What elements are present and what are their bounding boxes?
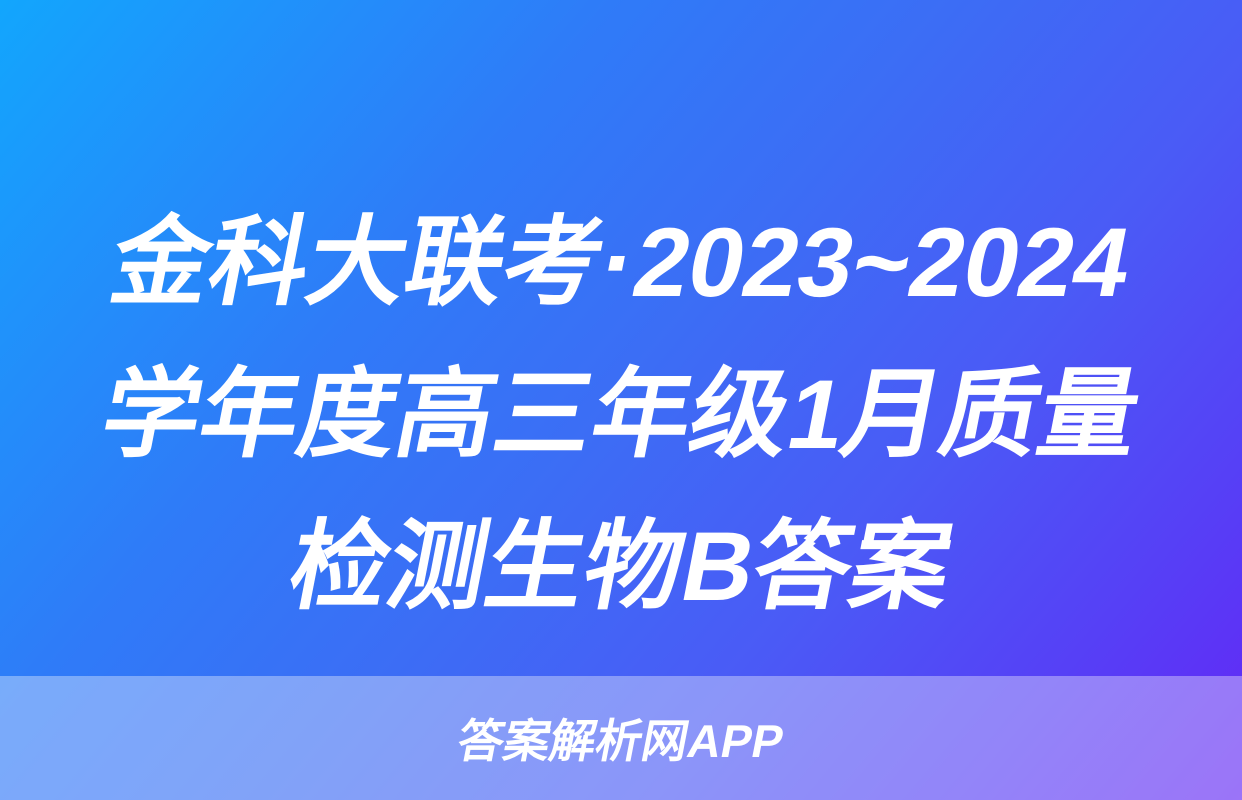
footer-brand-band: 答案解析网APP [0, 676, 1242, 800]
poster-title: 金科大联考·2023~2024 学年度高三年级1月质量 检测生物B答案 [0, 186, 1242, 642]
title-line-2: 学年度高三年级1月质量 [0, 338, 1242, 490]
title-line-1: 金科大联考·2023~2024 [0, 186, 1242, 338]
title-line-3: 检测生物B答案 [0, 490, 1242, 642]
footer-brand-label: 答案解析网APP [452, 705, 789, 771]
poster-canvas: 金科大联考·2023~2024 学年度高三年级1月质量 检测生物B答案 答案解析… [0, 0, 1242, 800]
